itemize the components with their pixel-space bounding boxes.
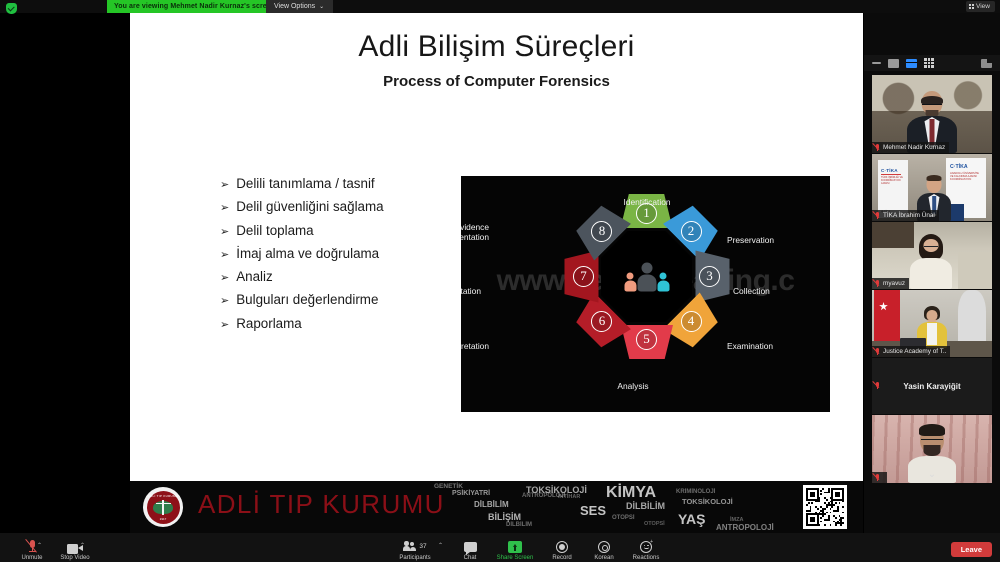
forensics-wordcloud: GENETİKPSİKİYATRİDİLBİLİMBİLİŞİMDİLBİLİM… bbox=[430, 481, 800, 533]
list-item-label: Bulguları değerlendirme bbox=[236, 289, 378, 310]
participant-name: TİKA İbrahim Ünal bbox=[872, 210, 939, 221]
participants-video-strip: Mehmet Nadir Kurnaz C·TİKA TÜRK İŞBİRLİĞ… bbox=[864, 13, 1000, 533]
cycle-step-label: Documentation bbox=[461, 286, 481, 296]
chevron-down-icon[interactable]: ⌄ bbox=[928, 470, 936, 480]
arrow-bullet-icon: ➢ bbox=[220, 175, 229, 196]
arrow-bullet-icon: ➢ bbox=[220, 198, 229, 219]
no-video-placeholder: Yasin Karayiğit bbox=[872, 358, 992, 414]
reactions-smiley-icon: + bbox=[640, 541, 652, 553]
muted-mic-icon bbox=[874, 280, 881, 288]
cycle-step-label: Analysis bbox=[598, 381, 668, 391]
muted-mic-icon bbox=[874, 474, 881, 482]
list-item-label: Delil güvenliğini sağlama bbox=[236, 196, 383, 217]
arrow-bullet-icon: ➢ bbox=[220, 268, 229, 289]
arrow-bullet-icon: ➢ bbox=[220, 291, 229, 312]
participant-video bbox=[906, 232, 956, 289]
logo-ring-top-text: ADLİ TIP KURUMU bbox=[147, 494, 180, 498]
stop-video-label: Stop Video bbox=[60, 555, 89, 561]
wordcloud-term: KRİMİNOLOJİ bbox=[676, 489, 715, 495]
zoom-meeting-window: You are viewing Mehmet Nadir Kurnaz's sc… bbox=[0, 0, 1000, 562]
chat-label: Chat bbox=[464, 555, 477, 561]
view-options-button[interactable]: View Options⌄ bbox=[266, 0, 333, 13]
list-item: ➢Bulguları değerlendirme bbox=[220, 289, 450, 312]
list-item: ➢Delil güvenliğini sağlama bbox=[220, 196, 450, 219]
reactions-button[interactable]: + Reactions bbox=[619, 540, 673, 562]
wordcloud-term: OTOPSİ bbox=[612, 515, 635, 521]
participants-icon bbox=[403, 541, 417, 552]
side-by-side-view-icon[interactable] bbox=[906, 59, 917, 68]
cycle-step-number: 5 bbox=[636, 329, 657, 350]
list-item: ➢Delil toplama bbox=[220, 220, 450, 243]
cycle-step-number: 4 bbox=[681, 311, 702, 332]
qr-code-icon bbox=[803, 485, 847, 529]
wordcloud-term: SES bbox=[580, 503, 606, 518]
chat-bubble-icon bbox=[464, 542, 477, 552]
wordcloud-term: BİLİŞİM bbox=[488, 512, 521, 522]
view-options-label: View Options bbox=[274, 3, 315, 10]
stop-video-button[interactable]: Stop Video bbox=[48, 540, 102, 562]
cycle-step-label: Evidence Presentation bbox=[461, 222, 489, 242]
muted-mic-icon bbox=[874, 348, 881, 356]
arrow-bullet-icon: ➢ bbox=[220, 315, 229, 336]
list-item: ➢Raporlama bbox=[220, 313, 450, 336]
globe-icon bbox=[598, 541, 610, 553]
wordcloud-term: DİLBİLİM bbox=[626, 501, 665, 511]
participant-tile[interactable]: Mehmet Nadir Kurnaz bbox=[872, 75, 992, 153]
popout-icon[interactable] bbox=[981, 59, 992, 68]
view-button-label: View bbox=[976, 1, 990, 12]
wordcloud-term: GENETİK bbox=[434, 483, 463, 490]
tika-banner-text: C·TİKA bbox=[950, 164, 968, 170]
share-screen-icon bbox=[508, 541, 522, 553]
list-item-label: Delil toplama bbox=[236, 220, 313, 241]
cycle-step-number: 2 bbox=[681, 221, 702, 242]
wordcloud-term: KİMYA bbox=[606, 484, 656, 502]
list-item: ➢Analiz bbox=[220, 266, 450, 289]
wordcloud-term: ANTROPOLOJİ bbox=[716, 523, 774, 532]
top-bar: You are viewing Mehmet Nadir Kurnaz's sc… bbox=[0, 0, 1000, 13]
wordcloud-term: PSİKİYATRİ bbox=[452, 490, 490, 497]
muted-mic-icon bbox=[874, 382, 881, 390]
arrow-bullet-icon: ➢ bbox=[220, 245, 229, 266]
list-item-label: Delili tanımlama / tasnif bbox=[236, 173, 374, 194]
microphone-muted-icon bbox=[27, 540, 38, 554]
list-item-label: Analiz bbox=[236, 266, 272, 287]
video-options-caret-icon[interactable]: ⌃ bbox=[80, 542, 85, 549]
cycle-step-label: Preservation bbox=[727, 235, 807, 245]
wordcloud-term: TOKSİKOLOJİ bbox=[682, 497, 733, 506]
tika-banner-text: C·TİKA bbox=[881, 168, 898, 173]
cycle-step-label: Interpretation bbox=[461, 341, 489, 351]
participant-tile[interactable]: Justice Academy of T.. bbox=[872, 290, 992, 357]
security-shield-icon[interactable] bbox=[4, 2, 18, 15]
record-label: Record bbox=[552, 555, 571, 561]
video-layout-controls bbox=[864, 55, 1000, 71]
organization-name: ADLİ TIP KURUMU bbox=[198, 489, 445, 520]
screen-share-banner: You are viewing Mehmet Nadir Kurnaz's sc… bbox=[107, 0, 282, 13]
participant-tile[interactable]: myavuz bbox=[872, 222, 992, 289]
share-screen-button[interactable]: Share Screen bbox=[488, 540, 542, 562]
participant-tile[interactable]: C·TİKA TÜRK İŞBİRLİĞİ VEKOORDİNASYONAJAN… bbox=[872, 154, 992, 221]
adli-tip-kurumu-logo-icon: ADLİ TIP KURUMU 1917 bbox=[143, 487, 183, 527]
slide-footer: ADLİ TIP KURUMU 1917 ADLİ TIP KURUMU GEN… bbox=[130, 481, 863, 533]
record-icon bbox=[556, 541, 568, 553]
list-item: ➢İmaj alma ve doğrulama bbox=[220, 243, 450, 266]
participant-name: Mehmet Nadir Kurnaz bbox=[872, 142, 949, 153]
arrow-bullet-icon: ➢ bbox=[220, 222, 229, 243]
muted-mic-icon bbox=[874, 144, 881, 152]
cycle-step-number: 7 bbox=[573, 266, 594, 287]
list-item-label: Raporlama bbox=[236, 313, 302, 334]
wordcloud-term: DİLBİLİM bbox=[506, 522, 532, 528]
view-layout-button[interactable]: View bbox=[966, 1, 995, 12]
list-item-label: İmaj alma ve doğrulama bbox=[236, 243, 379, 264]
cycle-step-label: Identification bbox=[602, 197, 692, 207]
shared-screen-stage[interactable]: Adli Bilişim Süreçleri Process of Comput… bbox=[0, 13, 864, 533]
muted-mic-icon bbox=[874, 212, 881, 220]
minimize-icon[interactable] bbox=[872, 62, 881, 64]
unmute-label: Unmute bbox=[21, 555, 42, 561]
cycle-ring: 12345678 bbox=[564, 194, 729, 359]
meeting-toolbar: Unmute ⌃ Stop Video ⌃ 37 Participants ⌃ … bbox=[0, 533, 1000, 562]
leave-button[interactable]: Leave bbox=[951, 542, 992, 557]
list-item: ➢Delili tanımlama / tasnif bbox=[220, 173, 450, 196]
participant-name: Yasin Karayiğit bbox=[903, 382, 960, 391]
cycle-step-label: Collection bbox=[733, 286, 803, 296]
participants-label: Participants bbox=[399, 555, 430, 561]
wordcloud-term: OTOPSİ bbox=[644, 521, 665, 527]
participants-button[interactable]: 37 Participants bbox=[388, 540, 442, 562]
wordcloud-term: DİLBİLİM bbox=[474, 500, 509, 509]
forensics-cycle-diagram: www.securereading.c bbox=[461, 176, 830, 412]
cycle-step-number: 6 bbox=[591, 311, 612, 332]
gallery-view-icon[interactable] bbox=[924, 58, 934, 68]
participant-name: Justice Academy of T.. bbox=[872, 346, 950, 357]
reactions-label: Reactions bbox=[633, 555, 660, 561]
participant-tile[interactable]: Yasin Karayiğit bbox=[872, 358, 992, 414]
page-title: Adli Bilişim Süreçleri bbox=[130, 30, 863, 64]
cycle-step-number: 3 bbox=[699, 266, 720, 287]
audio-options-caret-icon[interactable]: ⌃ bbox=[37, 542, 42, 549]
participant-tile[interactable]: ⌄ bbox=[872, 415, 992, 483]
grid-view-icon bbox=[969, 4, 974, 9]
participants-count: 37 bbox=[419, 543, 426, 550]
logo-ring-bottom-text: 1917 bbox=[147, 517, 180, 521]
page-subtitle: Process of Computer Forensics bbox=[130, 73, 863, 90]
speaker-view-icon[interactable] bbox=[888, 59, 899, 68]
presentation-slide: Adli Bilişim Süreçleri Process of Comput… bbox=[130, 13, 863, 533]
bullet-list: ➢Delili tanımlama / tasnif ➢Delil güvenl… bbox=[220, 173, 450, 336]
wordcloud-term: İNTİHAR bbox=[558, 494, 580, 500]
cycle-step-label: Examination bbox=[727, 341, 807, 351]
wordcloud-term: YAŞ bbox=[678, 511, 706, 527]
language-label: Korean bbox=[594, 555, 613, 561]
chevron-down-icon: ⌄ bbox=[319, 4, 324, 10]
share-screen-label: Share Screen bbox=[497, 555, 534, 561]
